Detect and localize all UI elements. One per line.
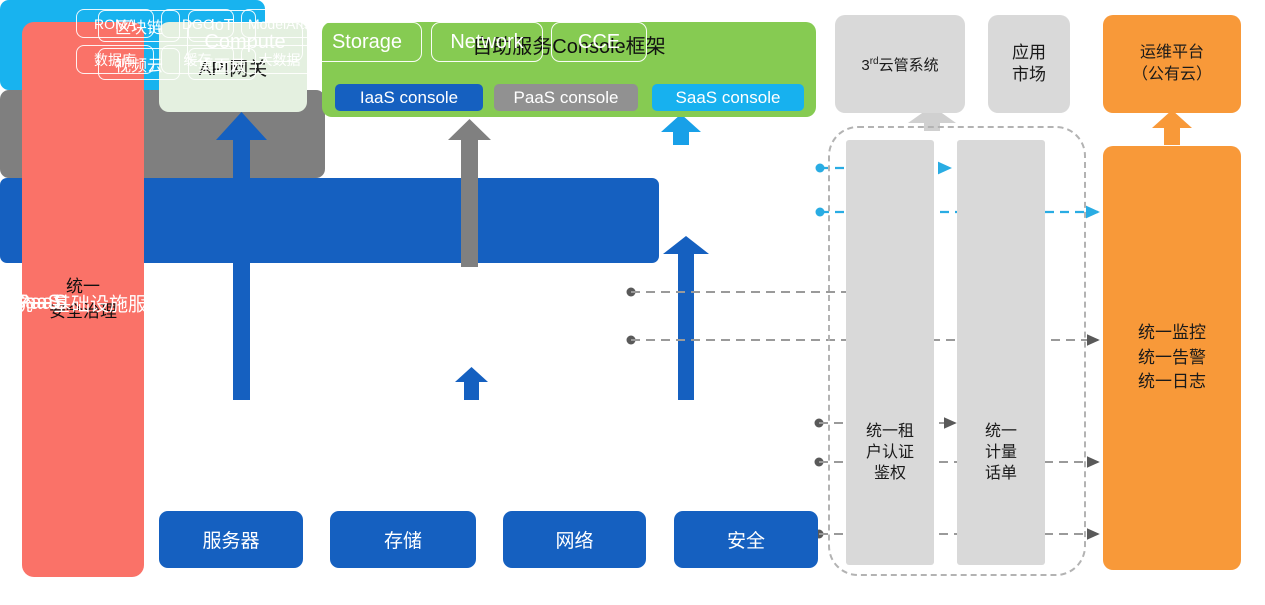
infra-chip-label: Network bbox=[450, 31, 523, 54]
architecture-diagram: 统一租 户认证 鉴权 统一 计量 话单 统一 安全治理 API网关 自助服务Co… bbox=[0, 0, 1265, 605]
ops-pillar-label: 统一监控 统一告警 统一日志 bbox=[1138, 321, 1206, 395]
third-party-cloud-mgmt-box[interactable]: 3rd云管系统 bbox=[835, 15, 965, 113]
app-market-label: 应用 市场 bbox=[1012, 42, 1046, 86]
dashed-paas-to-tenant-auth bbox=[627, 288, 861, 297]
infra-chip-network[interactable]: Network bbox=[431, 22, 543, 62]
third-party-prefix: 3 bbox=[861, 57, 869, 74]
unified-infrastructure-label: 统一基础设施服务 bbox=[14, 289, 166, 316]
shared-column-label: 统一 计量 话单 bbox=[957, 422, 1045, 484]
bottom-box-security[interactable]: 安全 bbox=[674, 511, 818, 568]
arrow-saas-to-saas-console bbox=[661, 114, 701, 145]
arrow-infra-to-saas bbox=[663, 236, 709, 400]
app-market-box[interactable]: 应用 市场 bbox=[988, 15, 1070, 113]
console-chip-label: PaaS console bbox=[514, 88, 619, 108]
bottom-box-network[interactable]: 网络 bbox=[503, 511, 646, 568]
console-chip-label: IaaS console bbox=[360, 88, 458, 108]
bottom-box-label: 网络 bbox=[555, 526, 593, 553]
bottom-box-storage[interactable]: 存储 bbox=[330, 511, 476, 568]
shared-column-label: 统一租 户认证 鉴权 bbox=[846, 422, 934, 484]
infra-chip-label: Compute bbox=[204, 31, 285, 54]
paas-chip-label: ROMA bbox=[94, 16, 136, 32]
infra-chip-label: Storage bbox=[332, 31, 402, 54]
third-party-suffix: 云管系统 bbox=[879, 57, 939, 74]
infra-chip-label: CCE bbox=[578, 31, 620, 54]
paas-chip-label: 数据库 bbox=[94, 50, 136, 70]
infra-chip-compute[interactable]: Compute bbox=[187, 22, 303, 62]
console-chip-label: SaaS console bbox=[676, 88, 781, 108]
bottom-box-label: 存储 bbox=[384, 526, 422, 553]
infra-chip-cce[interactable]: CCE bbox=[551, 22, 647, 62]
console-chip-iaas[interactable]: IaaS console bbox=[335, 84, 483, 111]
paas-chip-database[interactable]: 数据库 bbox=[76, 45, 154, 74]
ops-platform-label: 运维平台 （公有云） bbox=[1132, 42, 1212, 85]
bottom-box-label: 安全 bbox=[727, 526, 765, 553]
arrow-infra-to-paas bbox=[455, 367, 488, 400]
paas-chip-roma[interactable]: ROMA bbox=[76, 9, 154, 38]
bottom-box-server[interactable]: 服务器 bbox=[159, 511, 303, 568]
shared-service-column-tenant-auth: 统一租 户认证 鉴权 bbox=[846, 140, 934, 565]
infra-chip-storage[interactable]: Storage bbox=[312, 22, 422, 62]
third-party-superscript: rd bbox=[870, 56, 879, 67]
ops-pillar-box[interactable]: 统一监控 统一告警 统一日志 bbox=[1103, 146, 1241, 570]
bottom-box-label: 服务器 bbox=[202, 526, 259, 553]
arrow-ops-pillar-to-ops-platform bbox=[1152, 110, 1192, 145]
ops-platform-box[interactable]: 运维平台 （公有云） bbox=[1103, 15, 1241, 113]
shared-service-column-metering: 统一 计量 话单 bbox=[957, 140, 1045, 565]
console-chip-paas[interactable]: PaaS console bbox=[494, 84, 638, 111]
third-party-cloud-mgmt-label: 3rd云管系统 bbox=[861, 54, 938, 75]
console-chip-saas[interactable]: SaaS console bbox=[652, 84, 804, 111]
